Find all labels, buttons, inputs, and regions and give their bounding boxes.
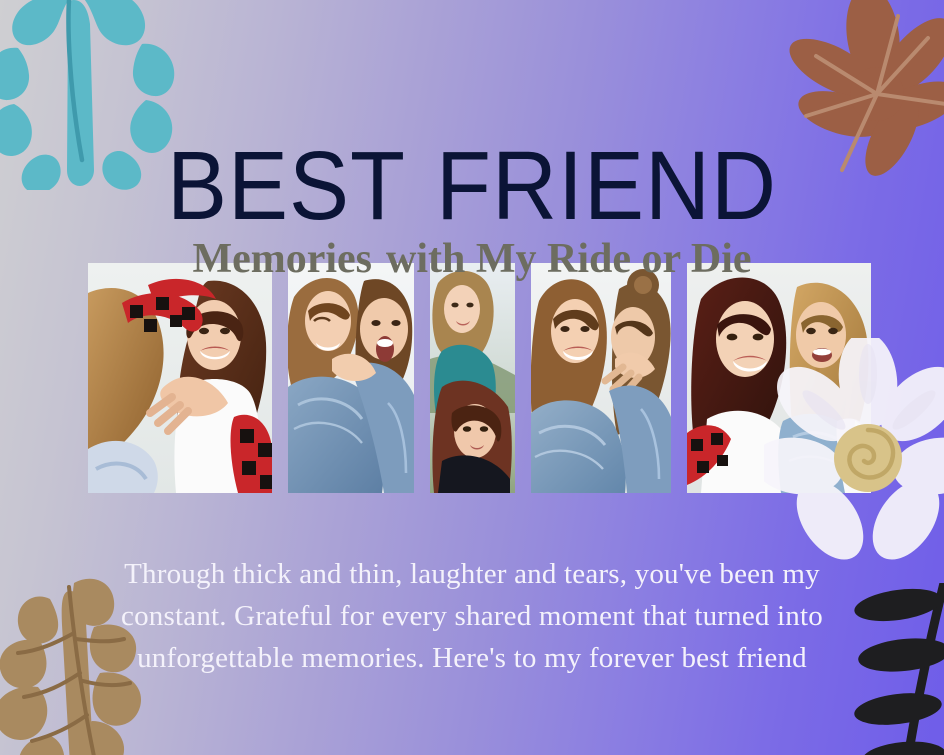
headline-word-friend: FRIEND: [436, 133, 777, 241]
photo-1[interactable]: [88, 263, 272, 493]
photo-5[interactable]: [687, 263, 871, 493]
quote-line-2: constant. Grateful for every shared mome…: [72, 595, 872, 637]
page-title: BESTFRIEND: [0, 138, 944, 235]
photo-4[interactable]: [531, 263, 671, 493]
photo-2[interactable]: [288, 263, 414, 493]
quote-line-3: unforgettable memories. Here's to my for…: [72, 637, 872, 679]
photo-strip: [88, 263, 856, 493]
poster-canvas: BESTFRIEND Memorieswith My Ride or Die T…: [0, 0, 944, 755]
photo-3[interactable]: [430, 263, 515, 493]
subtitle-phrase-ride-or-die: with My Ride or Die: [386, 236, 752, 282]
quote-text: Through thick and thin, laughter and tea…: [72, 553, 872, 679]
page-subtitle: Memorieswith My Ride or Die: [0, 237, 944, 281]
quote-line-1: Through thick and thin, laughter and tea…: [72, 553, 872, 595]
subtitle-word-memories: Memories: [192, 236, 372, 282]
headline-word-best: BEST: [167, 133, 406, 241]
